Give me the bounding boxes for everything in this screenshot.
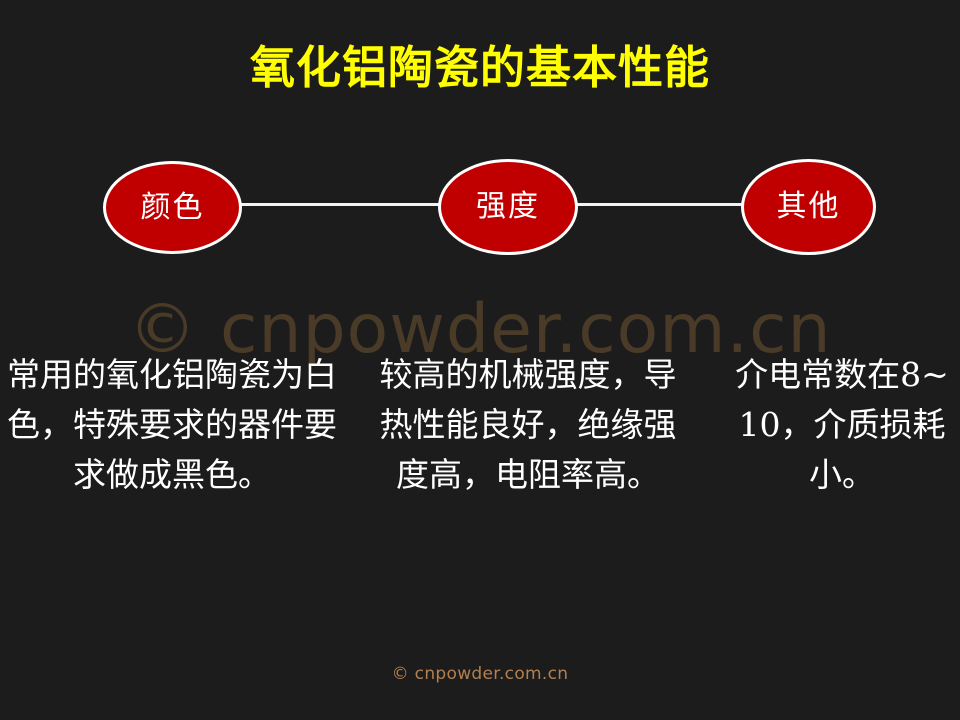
diagram-node-strength[interactable]: 强度	[438, 159, 578, 255]
connector-line-2	[573, 203, 753, 206]
content-column-other: 介电常数在8~10，介质损耗小。	[728, 350, 956, 500]
connector-line-1	[232, 203, 444, 206]
diagram-node-other[interactable]: 其他	[741, 159, 876, 255]
relationship-diagram: 颜色 强度 其他	[0, 140, 960, 280]
diagram-node-color[interactable]: 颜色	[103, 161, 242, 254]
page-title: 氧化铝陶瓷的基本性能	[0, 38, 960, 98]
content-columns: 常用的氧化铝陶瓷为白色，特殊要求的器件要求做成黑色。 较高的机械强度，导热性能良…	[0, 350, 960, 580]
content-column-color: 常用的氧化铝陶瓷为白色，特殊要求的器件要求做成黑色。	[6, 350, 338, 500]
slide-canvas: © cnpowder.com.cn 氧化铝陶瓷的基本性能 颜色 强度 其他 常用…	[0, 0, 960, 720]
footer-copyright: © cnpowder.com.cn	[0, 662, 960, 686]
content-column-strength: 较高的机械强度，导热性能良好，绝缘强度高，电阻率高。	[368, 350, 688, 500]
